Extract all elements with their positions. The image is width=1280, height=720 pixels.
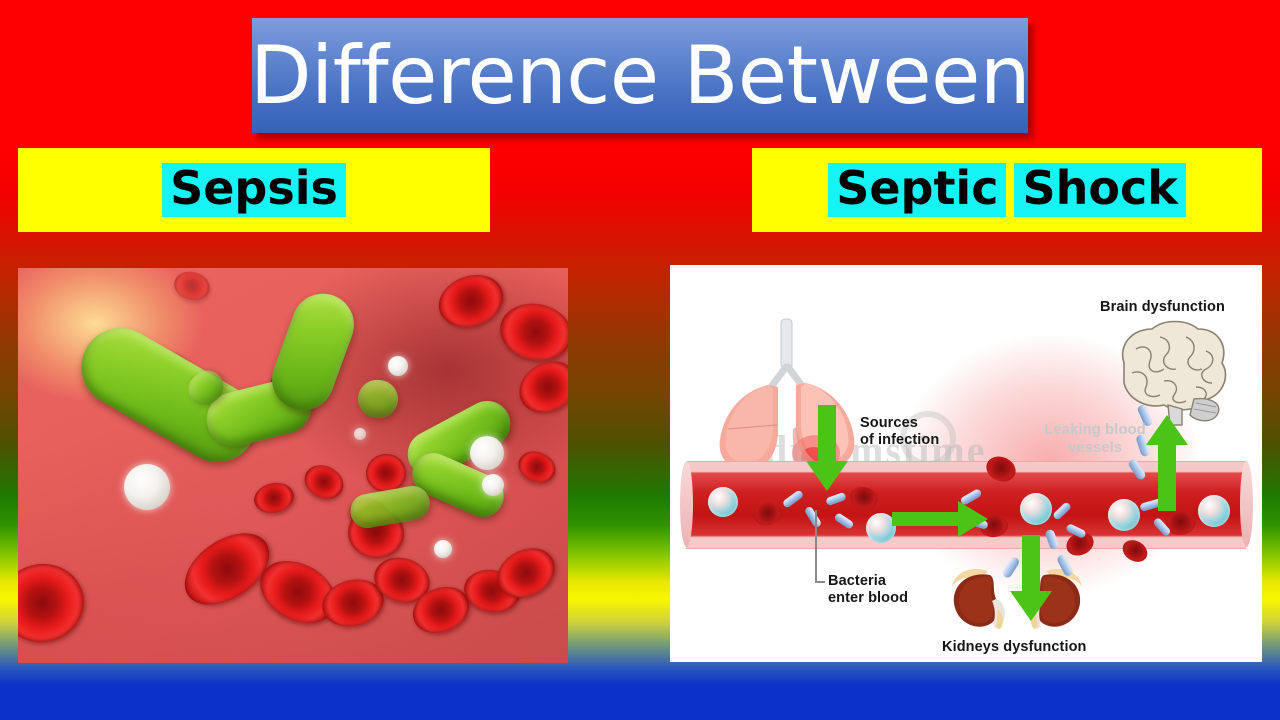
- red-blood-cell: [251, 479, 296, 517]
- bacterium: [348, 483, 433, 530]
- label-bacteria-enter-blood-line1: Bacteria: [828, 573, 908, 590]
- label-sources-of-infection: Sources of infection: [860, 415, 939, 450]
- image-sepsis-micrograph: [18, 268, 568, 663]
- leader-line-bacteria-tick: [815, 581, 825, 583]
- white-blood-cell: [470, 436, 504, 470]
- white-blood-cell: [434, 540, 452, 558]
- vessel-end-left: [680, 461, 693, 547]
- label-leaking-blood-vessels: Leaking blood vessels: [1020, 421, 1170, 457]
- red-blood-cell: [18, 557, 90, 648]
- heading-bar-septic-shock: Septic Shock: [752, 148, 1262, 232]
- white-blood-cell: [1108, 499, 1140, 531]
- red-blood-cell: [299, 459, 349, 505]
- red-blood-cell: [171, 268, 213, 304]
- arrow-down-lungs-to-blood-icon: [804, 405, 850, 495]
- label-leaking-blood-vessels-line1: Leaking blood: [1020, 421, 1170, 439]
- red-blood-cell: [495, 297, 568, 367]
- white-blood-cell: [354, 428, 366, 440]
- micrograph-background: [18, 268, 568, 663]
- red-blood-cell: [510, 351, 568, 423]
- heading-label-sepsis: Sepsis: [162, 163, 346, 218]
- white-blood-cell: [708, 487, 738, 517]
- image-septic-shock-diagram: dreamstime: [670, 265, 1262, 662]
- diagram-canvas: dreamstime: [670, 265, 1262, 662]
- red-blood-cell: [514, 446, 560, 488]
- white-blood-cell: [482, 474, 504, 496]
- label-brain-dysfunction: Brain dysfunction: [1100, 299, 1225, 316]
- page-title: Difference Between: [250, 36, 1030, 116]
- label-leaking-blood-vessels-line2: vessels: [1020, 439, 1170, 457]
- label-sources-of-infection-line2: of infection: [860, 432, 939, 449]
- title-banner: Difference Between: [252, 18, 1028, 133]
- red-blood-cell: [431, 268, 510, 336]
- heading-label-septic: Septic: [828, 163, 1006, 218]
- white-blood-cell: [124, 464, 170, 510]
- arrow-right-in-blood-icon: [892, 499, 990, 539]
- heading-bar-sepsis: Sepsis: [18, 148, 490, 232]
- label-bacteria-enter-blood: Bacteria enter blood: [828, 573, 908, 608]
- white-blood-cell: [1198, 495, 1230, 527]
- leader-line-bacteria: [815, 510, 817, 582]
- bacterium: [263, 285, 362, 419]
- slide-canvas: Difference Between Sepsis Septic Shock: [0, 0, 1280, 720]
- white-blood-cell: [1020, 493, 1052, 525]
- arrow-down-blood-to-kidneys-icon: [1008, 535, 1054, 625]
- bacterium: [356, 378, 400, 420]
- label-sources-of-infection-line1: Sources: [860, 415, 939, 432]
- lungs-icon: [698, 317, 878, 477]
- vessel-end-right: [1240, 461, 1253, 547]
- label-kidneys-dysfunction: Kidneys dysfunction: [942, 639, 1087, 656]
- heading-label-shock: Shock: [1014, 163, 1185, 218]
- white-blood-cell: [388, 356, 408, 376]
- label-bacteria-enter-blood-line2: enter blood: [828, 590, 908, 607]
